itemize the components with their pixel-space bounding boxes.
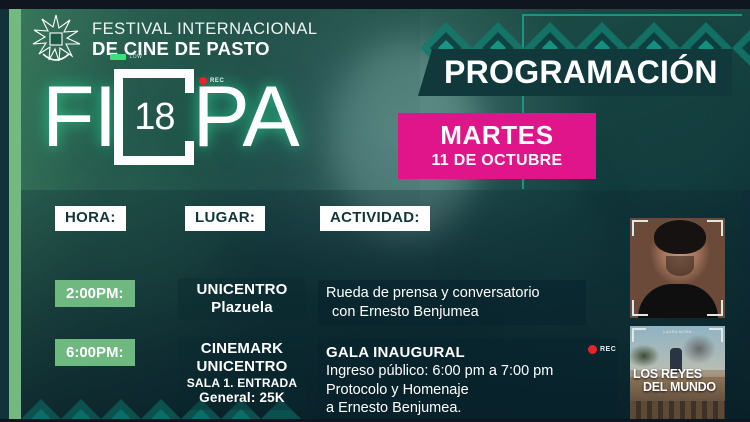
row-place-line: General: 25K [184,390,300,406]
rec-dot-icon [588,345,597,354]
programacion-title: PROGRAMACIÓN [444,54,718,91]
bracket [721,300,723,316]
battery-icon: LOW [110,54,142,60]
ficpa-wordmark: FI LOW 18 REC PA [42,78,299,156]
row-place-line: Plazuela [184,299,300,317]
bracket [721,220,723,236]
rec-label: REC [210,78,224,84]
date-block: MARTES 11 DE OCTUBRE [398,113,596,179]
row-place-line: SALA 1. ENTRADA [184,376,300,390]
row-place-line: UNICENTRO [184,358,300,376]
rec-badge-label: REC [600,346,616,353]
bracket [632,328,646,330]
viewfinder-frame-icon: LOW 18 REC [114,69,194,165]
row-place-line: CINEMARK [184,340,300,358]
bracket [632,328,634,342]
ficpa-letters-left: FI [42,74,116,160]
row-activity: Rueda de prensa y conversatorio con Erne… [318,280,586,325]
row-time: 2:00PM: [55,280,135,307]
battery-label: LOW [129,54,142,60]
row-place: CINEMARK UNICENTRO SALA 1. ENTRADA Gener… [178,337,306,410]
row-activity-title: GALA INAUGURAL [326,343,610,362]
row-activity-line: Rueda de prensa y conversatorio [326,284,578,303]
festival-name-line1: FESTIVAL INTERNACIONAL [92,21,318,38]
row-activity: GALA INAUGURAL Ingreso público: 6:00 pm … [318,339,618,422]
bracket [721,328,723,342]
row-activity-line: Protocolo y Homenaje [326,381,610,400]
programacion-banner: PROGRAMACIÓN [418,49,732,96]
date-full: 11 DE OCTUBRE [431,152,562,170]
battery-bar [110,54,126,60]
poster-corner-brackets [630,326,725,419]
festival-logo: FESTIVAL INTERNACIONAL DE CINE DE PASTO [30,14,318,66]
bracket [632,314,648,316]
bracket [632,220,648,222]
row-activity-line: con Ernesto Benjumea [326,303,578,322]
top-letterbox-bar [0,0,750,9]
left-green-stripe [9,9,21,422]
festival-programming-poster: FESTIVAL INTERNACIONAL DE CINE DE PASTO … [0,0,750,422]
ficpa-letters-right: PA [192,74,298,160]
guest-photo-thumbnail [630,218,725,318]
bracket [632,220,634,236]
left-dark-edge [0,9,9,422]
row-activity-line: a Ernesto Benjumea. [326,399,610,418]
column-header-time: HORA: [55,206,126,231]
row-time: 6:00PM: [55,339,135,366]
photo-corner-brackets [630,218,725,318]
rec-badge: REC [588,345,616,354]
row-activity-line: Ingreso público: 6:00 pm a 7:00 pm [326,362,610,381]
row-place-line: UNICENTRO [184,281,300,299]
film-poster-thumbnail: LAURA MORA LOS REYES DEL MUNDO [630,326,725,419]
column-header-place: LUGAR: [185,206,265,231]
column-header-activity: ACTIVIDAD: [320,206,430,231]
rec-indicator-logo: REC [199,77,224,85]
edition-number: 18 [114,69,194,165]
star-mark-icon [30,14,82,66]
rec-dot-icon [199,77,207,85]
row-place: UNICENTRO Plazuela [178,278,306,320]
date-day: MARTES [440,122,553,148]
bracket [632,300,634,316]
